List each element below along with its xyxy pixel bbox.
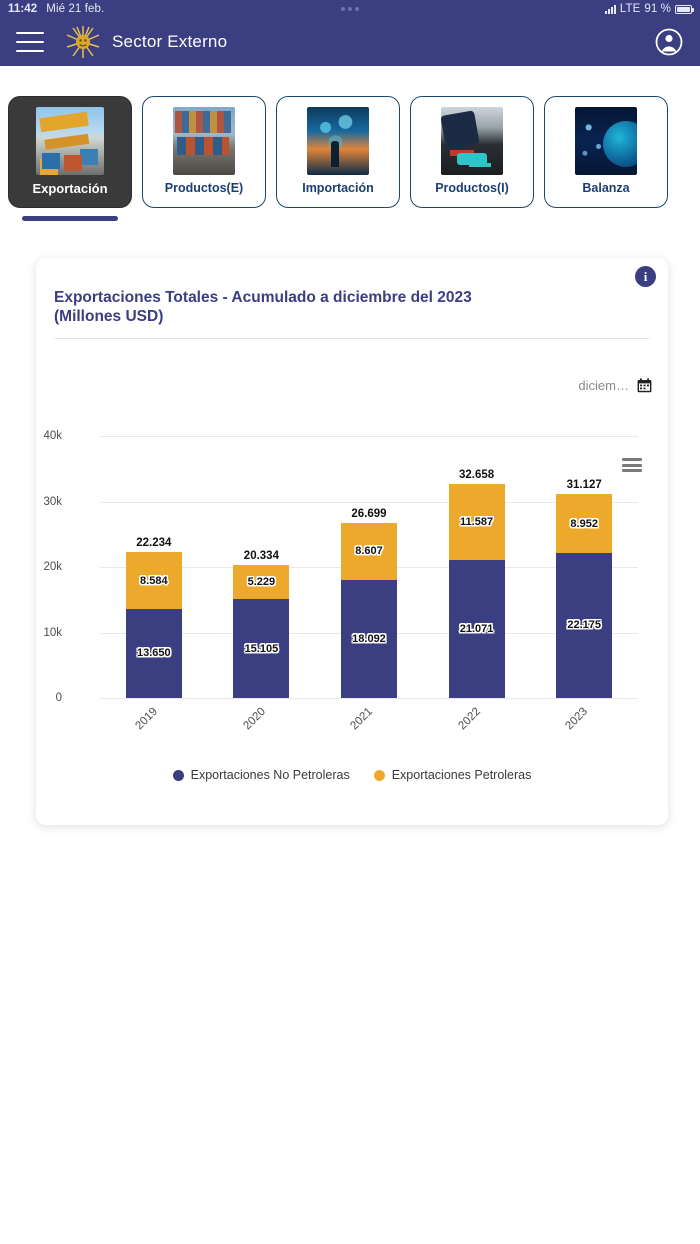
legend-color-swatch	[374, 770, 385, 781]
y-axis-tick: 0	[16, 692, 62, 704]
bar-2022[interactable]: 32.658 11.587 21.071	[449, 436, 505, 698]
x-axis-labels: 2019 2020 2021 2022 2023	[100, 702, 638, 742]
tab-label: Productos(E)	[165, 181, 243, 195]
bar-total-label: 26.699	[351, 508, 386, 520]
status-time: 11:42	[8, 3, 37, 15]
status-date: Mié 21 feb.	[46, 3, 104, 15]
page-title: Sector Externo	[112, 32, 227, 52]
account-circle-icon[interactable]	[654, 27, 684, 57]
title-divider	[54, 338, 650, 339]
legend-label: Exportaciones Petroleras	[392, 768, 532, 782]
chart-plot: 40k 30k 20k 10k 0 22.234 8.584 13.650	[36, 436, 668, 726]
world-map-digital-image	[307, 107, 369, 175]
tab-exportacion[interactable]: Exportación	[8, 96, 132, 208]
date-filter-value: diciem…	[578, 378, 629, 393]
segment-label-no-petroleras: 18.092	[352, 633, 386, 645]
segment-label-petroleras: 8.952	[570, 518, 598, 530]
hands-products-image	[441, 107, 503, 175]
port-crane-image	[36, 107, 104, 175]
chart-title: Exportaciones Totales - Acumulado a dici…	[54, 289, 614, 327]
info-icon[interactable]: i	[635, 266, 656, 287]
chart-legend: Exportaciones No Petroleras Exportacione…	[36, 768, 668, 782]
app-header: Sector Externo	[0, 18, 700, 66]
segment-label-petroleras: 8.607	[355, 545, 383, 557]
segment-label-petroleras: 5.229	[248, 576, 276, 588]
hamburger-menu-icon[interactable]	[16, 32, 44, 52]
x-axis-tick: 2020	[241, 706, 282, 747]
tab-label: Importación	[302, 181, 374, 195]
segment-label-petroleras: 8.584	[140, 575, 168, 587]
segment-label-petroleras: 11.587	[460, 516, 493, 528]
y-axis-tick: 40k	[16, 430, 62, 442]
legend-color-swatch	[173, 770, 184, 781]
shipping-containers-image	[173, 107, 235, 175]
x-axis-tick: 2022	[456, 706, 497, 747]
plot-area: 40k 30k 20k 10k 0 22.234 8.584 13.650	[100, 436, 638, 698]
bar-2020[interactable]: 20.334 5.229 15.105	[233, 436, 289, 698]
status-right-cluster: LTE 91 %	[605, 3, 692, 15]
bar-total-label: 20.334	[244, 550, 279, 562]
chart-title-line1: Exportaciones Totales - Acumulado a dici…	[54, 289, 472, 306]
battery-percent-label: 91 %	[644, 3, 671, 15]
x-axis-tick: 2021	[349, 706, 390, 747]
signal-strength-icon	[605, 5, 616, 14]
segment-label-no-petroleras: 15.105	[245, 643, 279, 655]
active-tab-indicator	[22, 216, 118, 221]
tab-productos-i[interactable]: Productos(I)	[410, 96, 534, 208]
bar-2019[interactable]: 22.234 8.584 13.650	[126, 436, 182, 698]
battery-icon	[675, 5, 692, 14]
sun-emblem-logo	[66, 25, 100, 59]
app-screen: 11:42 Mié 21 feb. LTE 91 %	[0, 0, 700, 1244]
tab-label: Productos(I)	[435, 181, 509, 195]
y-axis-tick: 30k	[16, 496, 62, 508]
date-filter[interactable]: diciem…	[578, 378, 652, 393]
bar-series: 22.234 8.584 13.650 20.334 5.229	[100, 436, 638, 698]
chart-card: i Exportaciones Totales - Acumulado a di…	[36, 258, 668, 825]
segment-label-no-petroleras: 22.175	[567, 619, 601, 631]
y-axis-tick: 20k	[16, 561, 62, 573]
bar-total-label: 22.234	[136, 537, 171, 549]
bar-2023[interactable]: 31.127 8.952 22.175	[556, 436, 612, 698]
legend-item-petroleras[interactable]: Exportaciones Petroleras	[374, 768, 532, 782]
tab-label: Balanza	[582, 181, 629, 195]
legend-item-no-petroleras[interactable]: Exportaciones No Petroleras	[173, 768, 350, 782]
section-tabs: Exportación Productos(E) Importación Pro…	[0, 96, 700, 224]
network-type-label: LTE	[620, 3, 641, 15]
bar-2021[interactable]: 26.699 8.607 18.092	[341, 436, 397, 698]
bar-total-label: 32.658	[459, 469, 494, 481]
bar-total-label: 31.127	[567, 479, 602, 491]
segment-label-no-petroleras: 21.071	[460, 623, 494, 635]
calendar-icon[interactable]	[637, 378, 652, 393]
globe-network-image	[575, 107, 637, 175]
tab-label: Exportación	[32, 181, 107, 196]
status-dots-indicator	[341, 7, 359, 11]
y-axis-tick: 10k	[16, 627, 62, 639]
tab-importacion[interactable]: Importación	[276, 96, 400, 208]
x-axis-tick: 2019	[133, 706, 174, 747]
legend-label: Exportaciones No Petroleras	[191, 768, 350, 782]
x-axis-tick: 2023	[564, 706, 605, 747]
status-bar: 11:42 Mié 21 feb. LTE 91 %	[0, 0, 700, 18]
tab-productos-e[interactable]: Productos(E)	[142, 96, 266, 208]
chart-title-line2: (Millones USD)	[54, 308, 163, 325]
segment-label-no-petroleras: 13.650	[137, 647, 171, 659]
tab-balanza[interactable]: Balanza	[544, 96, 668, 208]
